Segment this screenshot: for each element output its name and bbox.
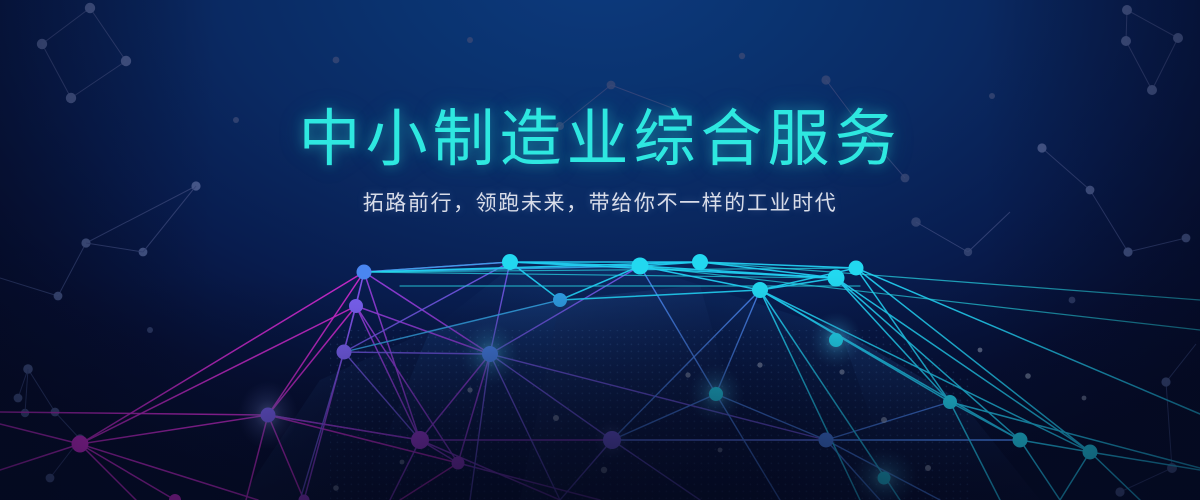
network-dome-graphic: .e { fill:none; stroke-linecap:round; } … [0, 0, 1200, 500]
hero-banner: .cl { stroke:#38477a; stroke-width:1; fi… [0, 0, 1200, 500]
network-nodes [72, 254, 1098, 500]
